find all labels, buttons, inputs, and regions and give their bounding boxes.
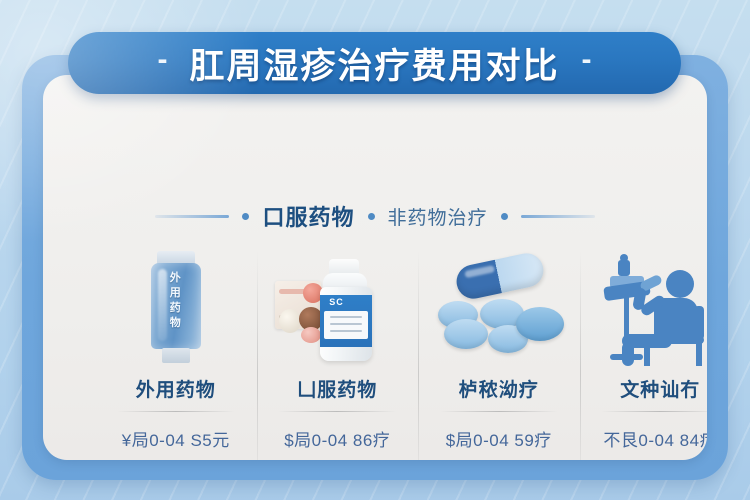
card-divider xyxy=(440,411,558,412)
pill-bottle-icon: SC xyxy=(262,247,412,367)
bottle-logo: SC xyxy=(329,297,344,307)
subtitle-dot-left xyxy=(242,213,249,220)
capsule-tablets-icon xyxy=(424,247,574,367)
card-divider xyxy=(117,411,235,412)
subtitle-dot-middle xyxy=(368,213,375,220)
card-divider xyxy=(601,411,707,412)
subtitle-secondary: 非药物治疗 xyxy=(388,203,488,230)
tube-text-char: 外 xyxy=(148,271,204,286)
comparison-card[interactable]: 外 用 药 物 外用药物 ¥局0-04 S5元 商局0-02 810 xyxy=(95,245,257,460)
content-panel: 口服药物 非药物治疗 外 用 药 物 xyxy=(43,75,707,460)
card-title: 文种讪冇 xyxy=(620,375,700,402)
card-title: 外用药物 xyxy=(136,375,216,402)
subtitle-dot-right xyxy=(501,213,508,220)
card-price-primary: $局0-04 59疗 xyxy=(446,426,552,451)
card-price-primary: $局0-04 86疗 xyxy=(284,426,390,451)
page-title: 肛周湿疹治疗费用对比 xyxy=(189,38,559,89)
comparison-card[interactable]: SC 凵服药物 $局0-04 86疗 $局0-04 510 xyxy=(257,245,419,460)
card-price-primary: ¥局0-04 S5元 xyxy=(122,426,230,451)
comparison-card[interactable]: 栌秾泑疗 $局0-04 59疗 羊局0-04 528 xyxy=(418,245,580,460)
title-dash-right: - xyxy=(582,45,592,75)
card-divider xyxy=(278,411,396,412)
subtitle-row: 口服药物 非药物治疗 xyxy=(43,200,707,232)
subtitle-rule-right xyxy=(521,215,595,218)
title-dash-left: - xyxy=(157,45,167,75)
comparison-card-grid: 外 用 药 物 外用药物 ¥局0-04 S5元 商局0-02 810 xyxy=(95,245,707,460)
infographic-canvas: 口服药物 非药物治疗 外 用 药 物 xyxy=(0,0,750,500)
subtitle-primary: 口服药物 xyxy=(262,200,354,232)
title-banner: - 肛周湿疹治疗费用对比 - xyxy=(68,32,681,94)
tube-text-char: 用 xyxy=(148,286,204,301)
card-price-primary: 不艮0-04 84疗 xyxy=(603,426,707,451)
tube-text-char: 药 xyxy=(148,301,204,316)
card-title: 凵服药物 xyxy=(297,375,377,402)
consultation-icon xyxy=(585,247,707,367)
card-title: 栌秾泑疗 xyxy=(459,375,539,402)
tube-text-char: 物 xyxy=(148,316,204,331)
subtitle-rule-left xyxy=(155,215,229,218)
ointment-tube-icon: 外 用 药 物 xyxy=(101,247,251,367)
comparison-card[interactable]: 文种讪冇 不艮0-04 84疗 不局0-04 !571 xyxy=(580,245,708,460)
